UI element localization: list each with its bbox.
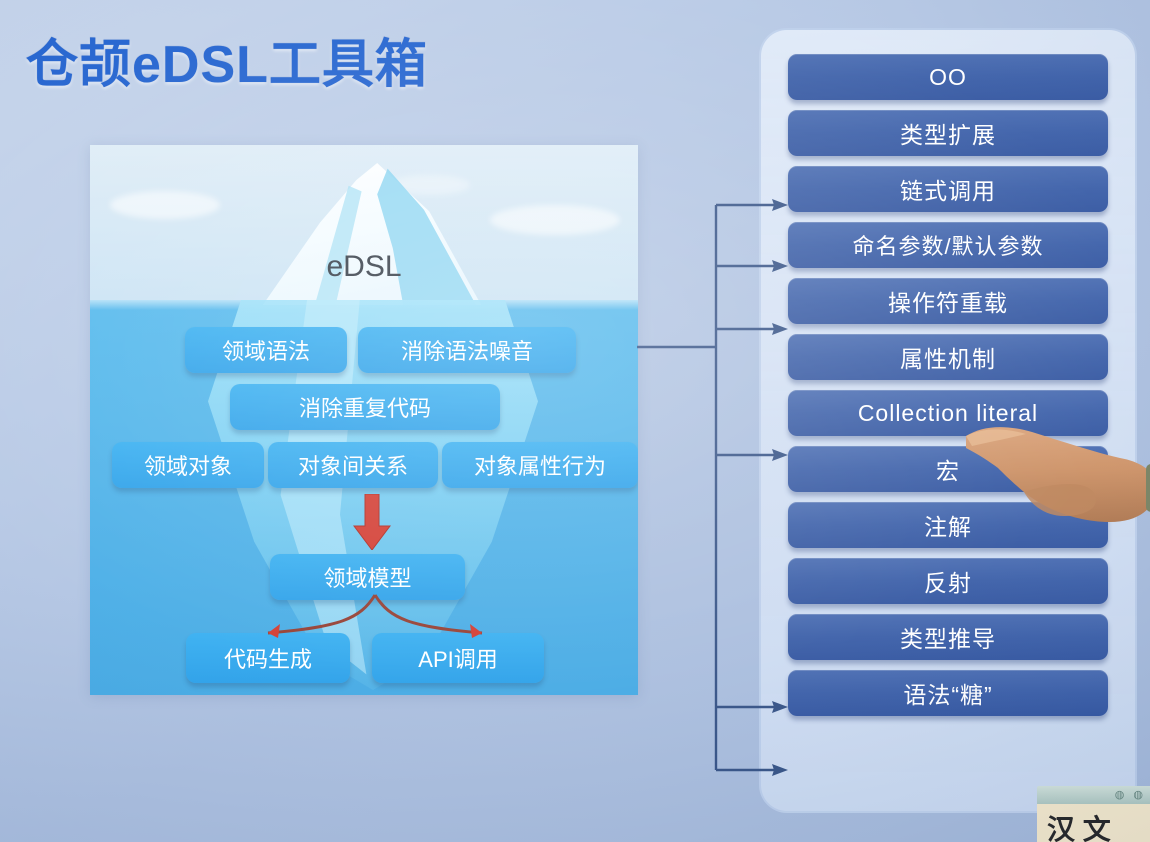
iceberg-tip-label: eDSL [90,250,638,284]
cloud-shape [110,191,220,219]
red-down-arrow-icon [352,494,392,550]
feature-item-operator-overload[interactable]: 操作符重载 [788,278,1108,324]
feature-item-chained-call[interactable]: 链式调用 [788,166,1108,212]
iceberg-box-object-behavior: 对象属性行为 [442,442,638,488]
feature-item-oo[interactable]: OO [788,54,1108,100]
feature-list: OO 类型扩展 链式调用 命名参数/默认参数 操作符重载 属性机制 Collec… [788,54,1108,716]
iceberg-box-domain-object: 领域对象 [112,442,264,488]
overlay-card: ◍ ◍ 汉 文 [1037,786,1150,842]
red-branch-connector-icon [230,593,520,649]
feature-item-reflection[interactable]: 反射 [788,558,1108,604]
feature-item-syntax-sugar[interactable]: 语法“糖” [788,670,1108,716]
iceberg-box-remove-noise: 消除语法噪音 [358,327,576,373]
iceberg-diagram: eDSL 领域语法 消除语法噪音 消除重复代码 领域对象 对象间关系 对象属性行… [90,145,638,695]
overlay-card-icons: ◍ ◍ [1115,788,1146,801]
feature-item-type-extension[interactable]: 类型扩展 [788,110,1108,156]
iceberg-box-domain-syntax: 领域语法 [185,327,347,373]
iceberg-box-object-relation: 对象间关系 [268,442,438,488]
cloud-shape [490,205,620,235]
overlay-card-text: 汉 文 [1047,808,1111,842]
iceberg-box-remove-dup-code: 消除重复代码 [230,384,500,430]
feature-item-type-inference[interactable]: 类型推导 [788,614,1108,660]
pointing-hand [960,418,1150,528]
page-title: 仓颉eDSL工具箱 [26,22,428,97]
feature-item-property-mechanism[interactable]: 属性机制 [788,334,1108,380]
feature-item-named-default-params[interactable]: 命名参数/默认参数 [788,222,1108,268]
